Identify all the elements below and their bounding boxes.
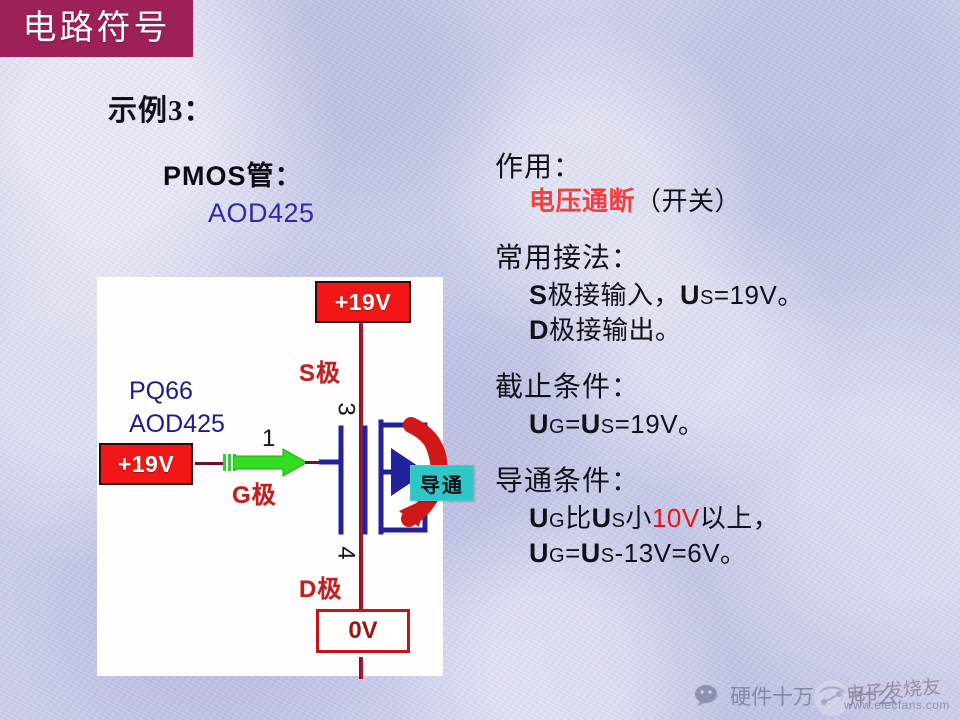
- wiring-source-subscript: S: [700, 287, 714, 309]
- wiring-source-pin: S: [529, 280, 548, 310]
- wiring-source-period: 。: [777, 281, 804, 310]
- function-heading: 作用：: [495, 150, 950, 185]
- supply-left-box: +19V: [99, 443, 193, 485]
- electrode-source-cn: 极: [316, 361, 341, 387]
- electrode-label-source: S极: [299, 353, 341, 388]
- conduct2-u2: U: [581, 538, 601, 568]
- conduct-xiao: 小: [625, 504, 652, 533]
- conduct-heading: 导通条件：: [495, 464, 950, 499]
- conduct-u1: U: [529, 503, 549, 533]
- wiring-drain-text: 极接输出。: [549, 316, 682, 345]
- cutoff-u1: U: [529, 409, 549, 439]
- example-heading: 示例3：: [108, 87, 214, 129]
- conduct2-eq: =: [565, 538, 581, 568]
- wiring-block: 常用接法： S极接输入，US=19V。 D极接输出。: [495, 241, 950, 348]
- device-type-cn: 管：: [247, 161, 303, 191]
- hatch-mark-1: [223, 454, 226, 471]
- circuit-diagram-panel: +19V +19V 0V PQ66 AOD425 1 3 4 S极 G极 D极 …: [97, 277, 443, 676]
- wire-ground-stub: [359, 657, 363, 679]
- conduct-condition-line1: UG比US小10V以上，: [529, 501, 950, 536]
- pin-number-source: 3: [332, 402, 360, 415]
- supply-top-label: +19V: [335, 289, 391, 316]
- cutoff-block: 截止条件： UG=US=19V。: [495, 370, 950, 442]
- slide-title-banner: 电路符号: [0, 0, 193, 57]
- cutoff-equation: UG=US=19V。: [529, 407, 950, 442]
- wiring-heading: 常用接法：: [495, 241, 950, 276]
- electrode-drain-letter: D: [299, 576, 317, 603]
- cutoff-heading: 截止条件：: [495, 370, 950, 405]
- conduct-tail: 以上，: [700, 504, 780, 533]
- supply-top-box: +19V: [315, 281, 411, 323]
- wiring-line-drain: D极接输出。: [529, 313, 950, 348]
- electrode-drain-cn: 极: [317, 577, 342, 603]
- wechat-icon: [694, 683, 724, 709]
- wiring-source-text: 极接输入，: [548, 281, 681, 310]
- conduct2-value: -13V=6V: [615, 538, 720, 568]
- pin-number-gate: 1: [262, 425, 275, 453]
- conduct-sub2: S: [612, 510, 626, 532]
- cutoff-u2: U: [581, 409, 601, 439]
- watermark: 硬件十万个为什么 电子发烧友 www.elecfans.com: [694, 672, 960, 720]
- part-number-heading: AOD425: [208, 198, 315, 229]
- ground-box: 0V: [316, 609, 410, 653]
- conduction-status-badge: 导通: [410, 465, 474, 501]
- conduct2-u1: U: [529, 538, 549, 568]
- explanation-column: 作用： 电压通断（开关） 常用接法： S极接输入，US=19V。 D极接输出。 …: [495, 150, 950, 593]
- conduct-threshold-highlight: 10V: [652, 503, 700, 533]
- function-block: 作用： 电压通断（开关）: [495, 150, 950, 219]
- conduct-bi: 比: [565, 504, 592, 533]
- supply-left-label: +19V: [118, 451, 174, 478]
- conduct-u2: U: [592, 503, 612, 533]
- electrode-label-drain: D极: [299, 569, 342, 604]
- device-type-latin: PMOS: [163, 161, 247, 191]
- ref-designator: PQ66: [129, 377, 193, 406]
- conduction-status-text: 导通: [420, 469, 464, 498]
- conduct-block: 导通条件： UG比US小10V以上， UG=US-13V=6V。: [495, 464, 950, 571]
- function-value: 电压通断（开关）: [529, 185, 950, 219]
- wiring-line-source: S极接输入，US=19V。: [529, 278, 950, 313]
- cutoff-sub2: S: [601, 416, 615, 438]
- cutoff-eq1: =: [565, 409, 581, 439]
- device-type-heading: PMOS管：: [163, 154, 303, 193]
- ref-part-number: AOD425: [129, 410, 225, 439]
- electrode-label-gate: G极: [232, 475, 277, 510]
- slide-title-text: 电路符号: [23, 12, 171, 46]
- pin-number-drain: 4: [332, 546, 360, 559]
- conduct2-period: 。: [720, 539, 747, 568]
- electrode-gate-letter: G: [232, 482, 252, 509]
- conduct-sub1: G: [549, 510, 565, 532]
- electrode-gate-cn: 极: [252, 483, 277, 509]
- wiring-source-value: =19V: [714, 280, 777, 310]
- cutoff-period: 。: [678, 410, 705, 439]
- electrode-source-letter: S: [299, 360, 316, 387]
- function-value-highlight: 电压通断: [529, 187, 635, 216]
- conduct2-sub2: S: [601, 545, 615, 567]
- wiring-source-u: U: [680, 280, 700, 310]
- hatch-mark-2: [228, 454, 231, 471]
- cutoff-sub1: G: [549, 416, 565, 438]
- cutoff-value: =19V: [615, 409, 678, 439]
- watermark-url: www.elecfans.com: [844, 698, 950, 712]
- function-value-rest: （开关）: [635, 187, 741, 216]
- wire-gate-input: [195, 462, 225, 465]
- ground-label: 0V: [348, 617, 377, 645]
- conduct2-sub1: G: [549, 545, 565, 567]
- wiring-drain-pin: D: [529, 315, 549, 345]
- conduct-condition-line2: UG=US-13V=6V。: [529, 536, 950, 571]
